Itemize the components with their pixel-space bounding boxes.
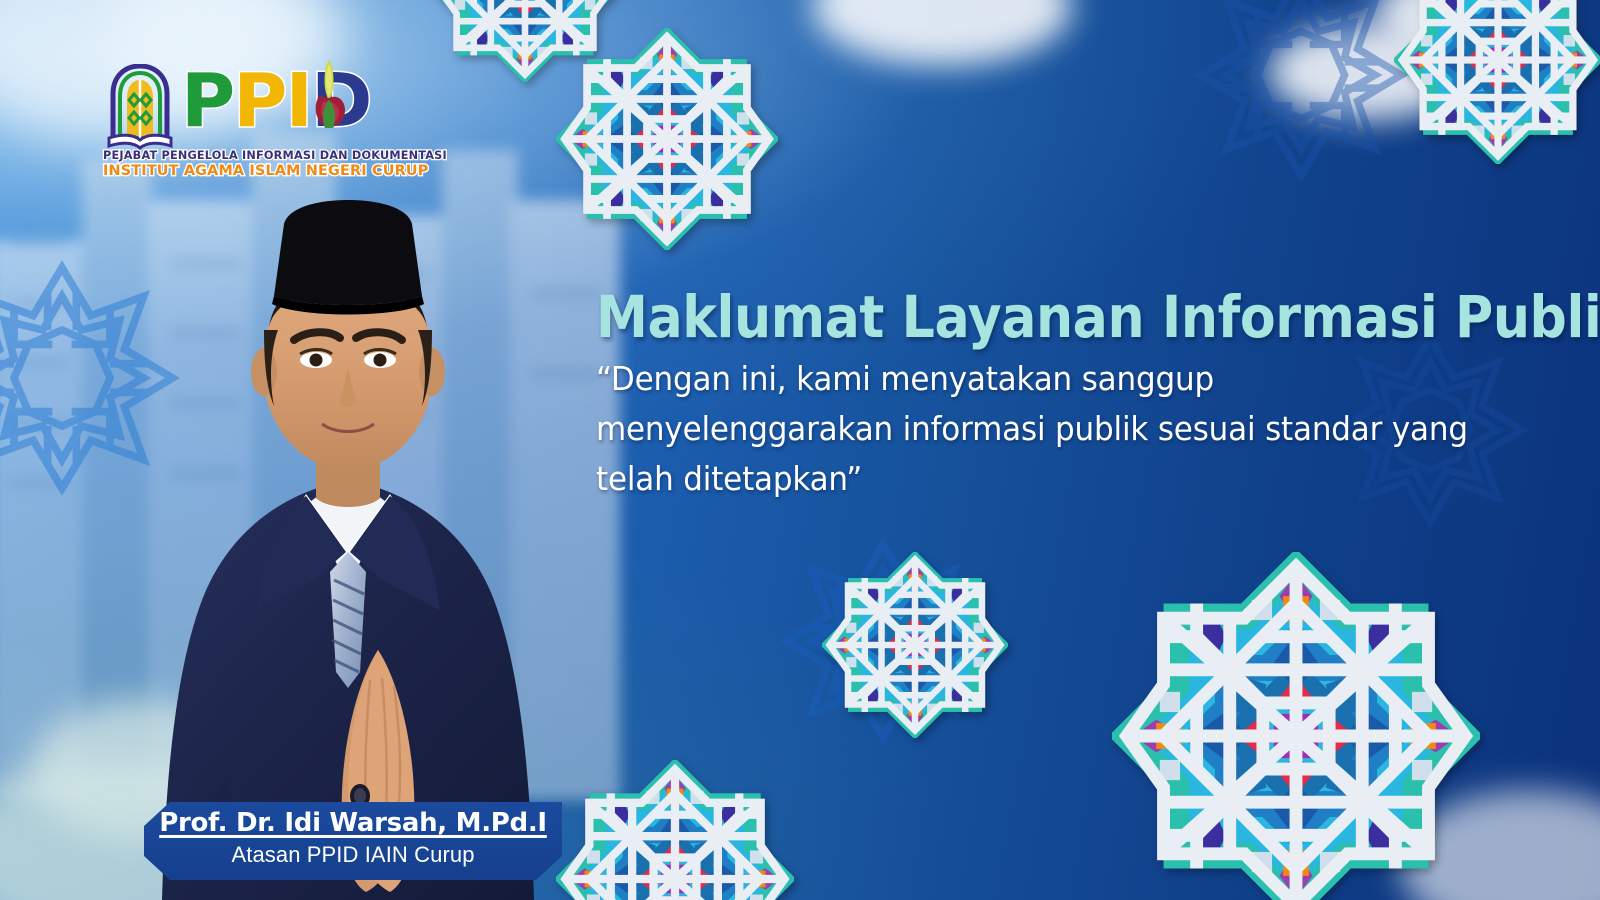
cloud-top-mid (812, 0, 1072, 66)
logo-caption-line-2: INSTITUT AGAMA ISLAM NEGERI CURUP (103, 163, 351, 179)
islamic-star-ornament-bottom-right-large (1112, 552, 1480, 900)
headline-subtitle: “Dengan ini, kami menyatakan sanggup men… (596, 354, 1489, 504)
person-name: Prof. Dr. Idi Warsah, M.Pd.I (144, 807, 562, 840)
name-banner: Prof. Dr. Idi Warsah, M.Pd.I Atasan PPID… (144, 802, 562, 880)
islamic-star-ornament-mid-right (822, 552, 1008, 738)
islamic-star-ornament-top-right (1394, 0, 1600, 164)
ppid-logo: PPID PEJABAT PENGELOLA INFORMASI DAN DOK… (103, 64, 353, 186)
iain-curup-emblem (103, 64, 177, 150)
poster-canvas: PPID PEJABAT PENGELOLA INFORMASI DAN DOK… (0, 0, 1600, 900)
person-role: Atasan PPID IAIN Curup (144, 840, 562, 870)
rafflesia-amorphophallus-icon (309, 56, 349, 134)
page-title: Maklumat Layanan Informasi Publik (596, 286, 1451, 348)
headline-block: Maklumat Layanan Informasi Publik “Denga… (596, 286, 1546, 504)
logo-caption-line-1: PEJABAT PENGELOLA INFORMASI DAN DOKUMENT… (103, 148, 348, 162)
line-star-top-right (1192, 0, 1410, 184)
ppid-letter-i: I (286, 58, 312, 144)
ppid-letter-p1: P (181, 58, 233, 144)
ppid-letter-p2: P (233, 58, 285, 144)
portrait-prof-idi-warsah (78, 180, 618, 900)
